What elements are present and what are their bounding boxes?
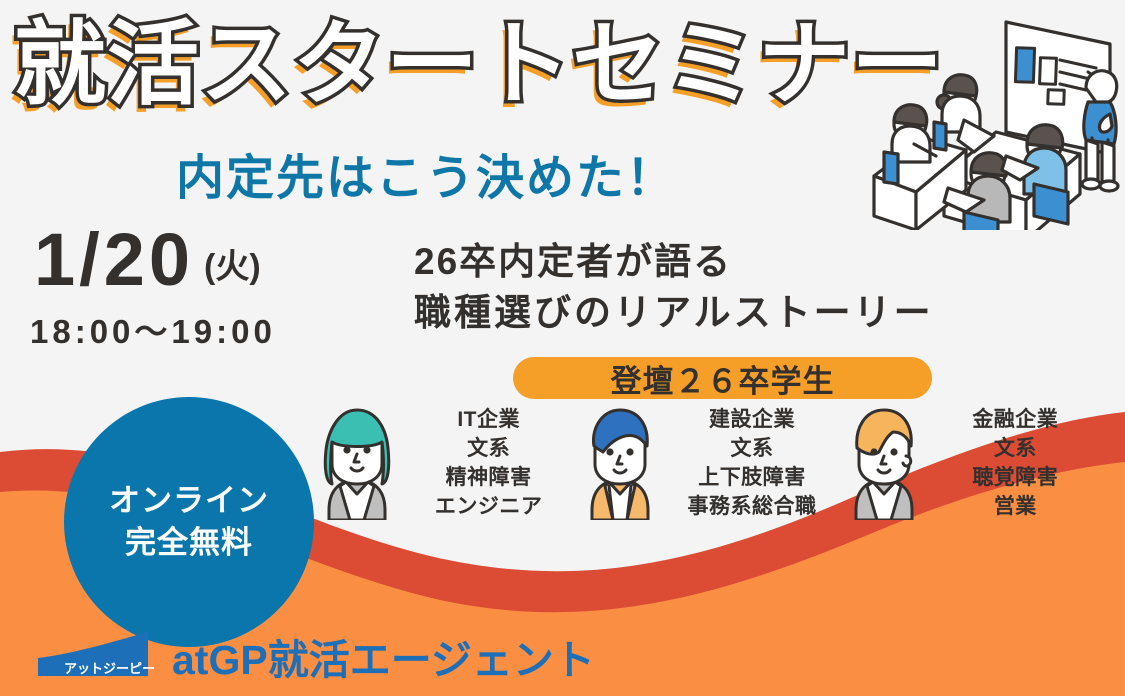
speaker-label: 文系 [925, 434, 1106, 463]
speaker-label: 文系 [661, 434, 842, 463]
speaker-card: 建設企業 文系 上下肢障害 事務系総合職 [579, 402, 842, 521]
speaker-label: 営業 [925, 492, 1106, 521]
speaker-card: 金融企業 文系 聴覚障害 営業 [843, 402, 1106, 521]
speaker-label: IT企業 [398, 405, 579, 434]
speaker-label: 精神障害 [398, 463, 579, 492]
speaker-label: 上下肢障害 [661, 463, 842, 492]
speaker-avatar-icon [579, 402, 661, 520]
atgp-logo: アットジーピー atGP就活エージェント [38, 626, 595, 686]
speaker-label: エンジニア [398, 492, 579, 521]
lead-copy-line1: 26卒内定者が語る [414, 236, 934, 287]
main-title-text: 就活スタートセミナー [14, 6, 944, 124]
speakers-badge: 登壇２６卒学生 [513, 357, 932, 399]
speaker-avatar-icon [843, 402, 925, 520]
logo-flag-icon: アットジーピー [38, 632, 166, 680]
logo-name: atGP就活エージェント [172, 626, 595, 686]
speaker-label: 事務系総合職 [661, 492, 842, 521]
speaker-labels: IT企業 文系 精神障害 エンジニア [398, 402, 579, 521]
lead-copy: 26卒内定者が語る 職種選びのリアルストーリー [414, 236, 934, 338]
speaker-label: 建設企業 [661, 405, 842, 434]
event-day-of-week: (火) [204, 242, 261, 298]
circle-line2: 完全無料 [125, 522, 253, 564]
logo-flag-text: アットジーピー [64, 658, 155, 677]
circle-line1: オンライン [109, 480, 269, 522]
subtitle: 内定先はこう決めた！ [176, 138, 676, 208]
speaker-labels: 金融企業 文系 聴覚障害 営業 [925, 402, 1106, 521]
lead-copy-line2: 職種選びのリアルストーリー [414, 287, 934, 338]
event-date: 1/20 [34, 222, 194, 298]
main-title: 就活スタートセミナー 就活スタートセミナー [14, 6, 944, 126]
speaker-card: IT企業 文系 精神障害 エンジニア [316, 402, 579, 521]
speaker-label: 文系 [398, 434, 579, 463]
speakers-row: IT企業 文系 精神障害 エンジニア [316, 402, 1106, 542]
event-time: 18:00〜19:00 [30, 305, 276, 353]
promo-banner: 就活スタートセミナー 就活スタートセミナー 内定先はこう決めた！ 1/20 (火… [0, 0, 1125, 696]
event-date-line: 1/20 (火) [34, 222, 261, 298]
speaker-labels: 建設企業 文系 上下肢障害 事務系総合職 [661, 402, 842, 521]
speaker-avatar-icon [316, 402, 398, 520]
speaker-label: 聴覚障害 [925, 463, 1106, 492]
online-free-circle: オンライン 完全無料 [64, 397, 314, 647]
speaker-label: 金融企業 [925, 405, 1106, 434]
